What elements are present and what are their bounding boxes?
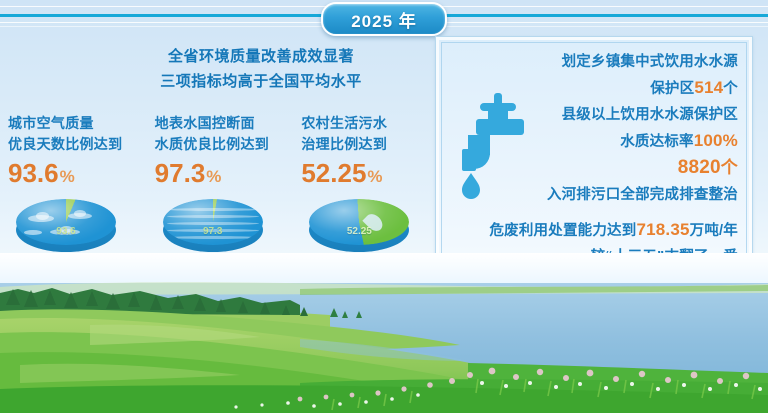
panel-bottom-pre: 危废利用处置能力达到 [489,223,636,239]
stat-value-number: 52.25 [301,158,366,188]
panel-line-5: 8820个 [488,155,738,182]
panel-text-block: 划定乡镇集中式饮用水水源 保护区514个 县级以上饮用水水源保护区 水质达标率1… [488,49,738,208]
panel-line-1: 划定乡镇集中式饮用水水源 [488,49,738,75]
stat-value: 52.25% [301,158,448,192]
year-banner: 2025 年 [321,2,447,36]
panel-line-4-post: % [723,131,738,150]
stat-value-unit: % [367,167,382,186]
panel-bottom-line-1: 危废利用处置能力达到718.35万吨/年 [452,217,738,244]
panel-line-4-number: 100 [694,131,723,150]
panel-line-4-pre: 水质达标率 [620,134,694,150]
panel-line-6: 入河排污口全部完成排查整治 [488,182,738,208]
stat-air-quality: 城市空气质量 优良天数比例达到 93.6% [8,113,155,192]
stat-value-number: 97.3 [155,158,206,188]
panel-bottom-post: 万吨/年 [690,223,738,239]
stat-label-line-2: 水质优良比例达到 [155,134,302,155]
pie-chart-rural-sewage: 52.25 [309,199,419,259]
headline-line-1: 全省环境质量改善成效显著 [96,44,426,69]
stats-row: 城市空气质量 优良天数比例达到 93.6% [8,113,448,192]
landscape-illustration [0,253,768,413]
panel-line-2-pre: 保护区 [650,81,694,97]
panel-line-2: 保护区514个 [488,75,738,102]
water-source-panel: 划定乡镇集中式饮用水水源 保护区514个 县级以上饮用水水源保护区 水质达标率1… [435,36,753,273]
infographic-poster: 2025 年 全省环境质量改善成效显著 三项指标均高于全国平均水平 城市空气质量… [0,0,768,413]
panel-line-4: 水质达标率100% [488,128,738,155]
stat-rural-sewage: 农村生活污水 治理比例达到 52.25% 52.25 [301,113,448,192]
panel-line-3: 县级以上饮用水水源保护区 [488,102,738,128]
pie-data-label: 52.25 [309,226,409,237]
pie-data-label: 93.6 [16,226,116,237]
pie-data-label: 97.3 [163,226,263,237]
panel-bottom-number: 718.35 [636,220,689,239]
stat-value-number: 93.6 [8,158,59,188]
pie-chart-surface-water: 97.3 [163,199,273,259]
year-banner-label: 2025 年 [351,7,417,32]
stat-label-line-1: 农村生活污水 [301,113,448,134]
stat-value-unit: % [206,167,221,186]
stat-label-line-1: 地表水国控断面 [155,113,302,134]
panel-line-5-number: 8820 [678,157,721,178]
stat-value: 97.3% [155,158,302,192]
stat-label-line-2: 优良天数比例达到 [8,134,155,155]
headline-line-2: 三项指标均高于全国平均水平 [96,69,426,94]
stat-value: 93.6% [8,158,155,192]
pie-chart-air-quality: 93.6 [16,199,126,259]
stat-label-line-1: 城市空气质量 [8,113,155,134]
headline: 全省环境质量改善成效显著 三项指标均高于全国平均水平 [96,44,426,94]
stat-label-line-2: 治理比例达到 [301,134,448,155]
stat-surface-water: 地表水国控断面 水质优良比例达到 97.3% [155,113,302,192]
panel-line-2-post: 个 [723,81,738,97]
stat-value-unit: % [60,167,75,186]
panel-line-2-number: 514 [694,78,723,97]
panel-line-5-post: 个 [721,158,738,177]
